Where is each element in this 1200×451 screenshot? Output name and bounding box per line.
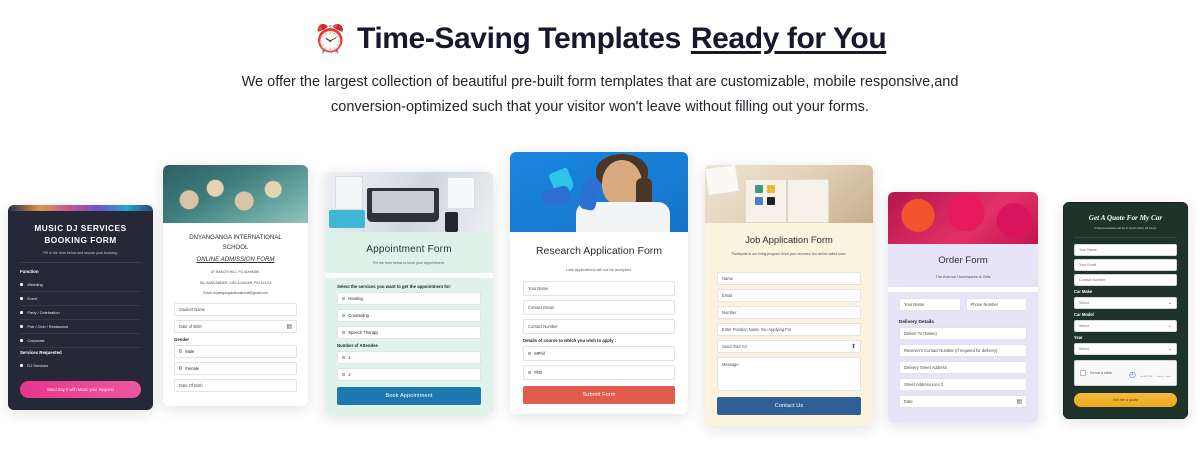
- form-subtitle: The Avenue Homewares & Gifts: [899, 274, 1027, 279]
- form-title: Get A Quote For My Car: [1074, 214, 1177, 222]
- car-make-select[interactable]: Select ⌄: [1074, 297, 1177, 309]
- hero-subtitle-line-2: conversion-optimized such that your visi…: [331, 99, 869, 115]
- card-body: Research Application Form Late applicati…: [510, 232, 688, 414]
- template-card-appointment-form[interactable]: Appointment Form Fill the form below to …: [325, 172, 493, 415]
- page-title-plain: Time-Saving Templates: [357, 22, 681, 56]
- template-card-online-admission-form[interactable]: DNYANGANGA INTERNATIONAL SCHOOL ONLINE A…: [163, 165, 308, 406]
- checkbox-icon[interactable]: [20, 283, 23, 286]
- checkbox-icon[interactable]: [20, 339, 23, 342]
- divider: [1074, 237, 1177, 238]
- radio-icon[interactable]: [179, 366, 182, 369]
- hero-section: ⏰ Time-Saving Templates Ready for You We…: [0, 0, 1200, 121]
- hero-subtitle: We offer the largest collection of beaut…: [235, 70, 965, 121]
- glyph-shape: [755, 185, 763, 193]
- book-appointment-button[interactable]: Book Appointment: [337, 387, 481, 405]
- option-row[interactable]: Wedding: [20, 278, 141, 292]
- student-name-input[interactable]: Student Name: [174, 303, 297, 316]
- radio-option-2[interactable]: 2: [337, 368, 481, 381]
- paper-shape: [705, 165, 738, 195]
- radio-icon[interactable]: [342, 297, 345, 300]
- page-title: ⏰ Time-Saving Templates Ready for You: [0, 22, 1200, 56]
- laptop-screen-shape: [372, 191, 434, 213]
- divider: [20, 262, 141, 263]
- field-label-year: Year: [1074, 335, 1177, 340]
- message-textarea[interactable]: Message: [717, 357, 861, 391]
- template-card-job-application-form[interactable]: Job Application Form Participate in our …: [705, 165, 873, 426]
- receiver-contact-input[interactable]: Receiver's Contact Number (If required f…: [899, 344, 1027, 357]
- form-subtitle: Fill the form below to book your appoint…: [337, 261, 481, 265]
- template-card-research-application-form[interactable]: Research Application Form Late applicati…: [510, 152, 688, 414]
- option-label: Corporate: [27, 338, 44, 343]
- contact-number-input[interactable]: Contact Number: [1074, 274, 1177, 286]
- card-body: MUSIC DJ SERVICES BOOKING FORM Fill in t…: [8, 211, 153, 410]
- field-group-label-services: Select the services you want to get the …: [337, 284, 481, 289]
- recaptcha-brand: reCAPTCHA: [1140, 376, 1152, 378]
- radio-icon[interactable]: [528, 371, 531, 374]
- calendar-icon[interactable]: ▤: [286, 323, 292, 330]
- form-subtitle: Late applications will not be accepted.: [523, 267, 675, 272]
- checkbox-icon[interactable]: [20, 325, 23, 328]
- radio-icon[interactable]: [342, 314, 345, 317]
- select-value: Select: [1079, 324, 1089, 328]
- divider: [337, 278, 481, 279]
- page-title-underlined: Ready for You: [691, 22, 886, 56]
- checkbox-icon[interactable]: [20, 364, 23, 367]
- recaptcha-label: I'm not a robot: [1090, 371, 1112, 375]
- radio-option-male[interactable]: Male: [174, 345, 297, 358]
- option-label: Pub / Club / Restaurant: [27, 324, 67, 329]
- section-label-delivery-details: Delivery Details: [899, 319, 1027, 324]
- glyph-shape: [755, 197, 763, 205]
- template-cards-strip: MUSIC DJ SERVICES BOOKING FORM Fill in t…: [0, 140, 1200, 451]
- banner-image-pencils: [163, 165, 308, 223]
- option-label: Counseling: [348, 313, 368, 318]
- street-address-line-2-input[interactable]: Street Address Line 2: [899, 378, 1027, 391]
- card-header: Job Application Form Participate in our …: [705, 223, 873, 266]
- chevron-down-icon[interactable]: ⌄: [1168, 300, 1172, 306]
- email-input[interactable]: Email: [717, 289, 861, 302]
- radio-option-hearing[interactable]: Hearing: [337, 292, 481, 305]
- book-spine-shape: [786, 179, 788, 223]
- submit-form-button[interactable]: Submit Form: [523, 386, 675, 404]
- card-header: Appointment Form Fill the form below to …: [325, 232, 493, 273]
- form-subtitle: A Representative will be in touch within…: [1074, 226, 1177, 230]
- card-body: Select the services you want to get the …: [325, 278, 493, 415]
- recaptcha-checkbox[interactable]: [1080, 370, 1086, 376]
- option-label: Hearing: [348, 296, 362, 301]
- radio-icon[interactable]: [179, 349, 182, 352]
- contact-number-input[interactable]: Contact Number: [523, 319, 675, 334]
- chevron-down-icon[interactable]: ⌄: [1168, 346, 1172, 352]
- hero-subtitle-line-1: We offer the largest collection of beaut…: [242, 74, 959, 90]
- option-row[interactable]: Party / Celebration: [20, 306, 141, 320]
- option-label: Male: [185, 349, 194, 354]
- blue-folder-shape: [329, 210, 365, 228]
- phone-shape: [445, 212, 458, 232]
- recaptcha-icon: ◴: [1129, 370, 1136, 379]
- option-row[interactable]: Pub / Club / Restaurant: [20, 320, 141, 334]
- field-group-label-gender: Gender: [174, 337, 297, 342]
- form-subtitle: Fill in the form below and secure your b…: [20, 251, 141, 255]
- chevron-down-icon[interactable]: ⌄: [1168, 323, 1172, 329]
- card-body: Name Email Number Enter Position Name Yo…: [705, 266, 873, 426]
- number-input[interactable]: Number: [717, 306, 861, 319]
- option-label: DJ Services: [27, 363, 48, 368]
- submit-button[interactable]: Send Say It with Music your Request: [20, 381, 141, 398]
- glyph-shape: [767, 197, 775, 205]
- input-placeholder: Date: [904, 399, 913, 404]
- your-email-input[interactable]: Your Email: [1074, 259, 1177, 271]
- radio-icon[interactable]: [342, 373, 345, 376]
- delivery-street-address-input[interactable]: Delivery Street Address: [899, 361, 1027, 374]
- radio-option-phd[interactable]: PhD: [523, 365, 675, 380]
- cv-upload-input[interactable]: Send Your Cv ⬆: [717, 340, 861, 353]
- form-title: Research Application Form: [523, 245, 675, 257]
- banner-image-laptop-desk: [325, 172, 493, 232]
- banner-image-flowers: [888, 192, 1038, 244]
- form-title: Appointment Form: [337, 244, 481, 255]
- car-model-select[interactable]: Select ⌄: [1074, 320, 1177, 332]
- divider: [899, 292, 1027, 293]
- form-title-line-2: SCHOOL: [174, 243, 297, 253]
- upload-icon[interactable]: ⬆: [851, 343, 856, 350]
- glyph-shape: [767, 185, 775, 193]
- radio-option-1[interactable]: 1: [337, 351, 481, 364]
- date-of-birth-input-2[interactable]: Date Of Birth: [174, 379, 297, 392]
- input-placeholder: Date of Birth: [179, 324, 202, 329]
- field-group-label-services: Services Requested: [20, 350, 141, 355]
- templates-showcase-page: ⏰ Time-Saving Templates Ready for You We…: [0, 0, 1200, 451]
- form-title: Order Form: [899, 255, 1027, 266]
- deliver-to-input[interactable]: Deliver To (Name): [899, 327, 1027, 340]
- address-line-2: TAL.SANGAMNER, DIST.A.NAGAR, PIN 413714: [174, 281, 297, 285]
- option-label: Female: [185, 366, 199, 371]
- form-title: Job Application Form: [717, 234, 861, 245]
- select-value: Select: [1079, 347, 1089, 351]
- alarm-clock-icon: ⏰: [314, 26, 347, 53]
- field-group-label-function: Function: [20, 269, 141, 274]
- option-label: Speech Therapy: [348, 330, 378, 335]
- radio-option-counseling[interactable]: Counseling: [337, 309, 481, 322]
- radio-option-speech-therapy[interactable]: Speech Therapy: [337, 326, 481, 339]
- field-group-label-attendee: Number of Attendee: [337, 343, 481, 348]
- recaptcha-terms: Privacy - Terms: [1157, 376, 1171, 378]
- option-label: Wedding: [27, 282, 42, 287]
- contact-email-input[interactable]: Contact Email: [523, 300, 675, 315]
- radio-icon[interactable]: [528, 352, 531, 355]
- banner-image-open-book: [705, 165, 873, 223]
- card-body: DNYANGANGA INTERNATIONAL SCHOOL ONLINE A…: [163, 223, 308, 406]
- date-of-birth-input[interactable]: Date of Birth ▤: [174, 320, 297, 333]
- field-group-label-course: Details of course to which you wish to a…: [523, 338, 675, 343]
- position-name-input[interactable]: Enter Position Name You Applying For: [717, 323, 861, 336]
- option-row[interactable]: Corporate: [20, 334, 141, 348]
- address-line-1: AT MANCHI HILL, PO ADHIKIBK,: [174, 270, 297, 274]
- form-subtitle: Participate in our hiring program.Send y…: [717, 252, 861, 256]
- name-input[interactable]: Name: [717, 272, 861, 285]
- form-title: MUSIC DJ SERVICES BOOKING FORM: [20, 222, 141, 246]
- radio-option-female[interactable]: Female: [174, 362, 297, 375]
- your-name-input[interactable]: Your Name: [899, 298, 961, 311]
- template-card-music-dj-booking-form[interactable]: MUSIC DJ SERVICES BOOKING FORM Fill in t…: [8, 205, 153, 410]
- form-title-line-3: ONLINE ADMISSION FORM: [174, 256, 297, 263]
- card-body: Your Name Phone Number Delivery Details …: [888, 292, 1038, 423]
- recaptcha-logo: ◴ reCAPTCHA Privacy - Terms: [1129, 364, 1171, 382]
- contact-us-button[interactable]: Contact Us: [717, 397, 861, 415]
- checkbox-icon[interactable]: [20, 311, 23, 314]
- option-label: Event: [27, 296, 37, 301]
- option-label: 2: [348, 372, 350, 377]
- form-title-line-1: DNYANGANGA INTERNATIONAL: [174, 233, 297, 243]
- recaptcha-widget[interactable]: I'm not a robot ◴ reCAPTCHA Privacy - Te…: [1074, 360, 1177, 386]
- option-label: MPhil: [534, 351, 544, 356]
- option-row[interactable]: DJ Services: [20, 359, 141, 372]
- checkbox-icon[interactable]: [20, 297, 23, 300]
- name-phone-row: Your Name Phone Number: [899, 298, 1027, 315]
- template-card-car-quote-form[interactable]: Get A Quote For My Car A Representative …: [1063, 202, 1188, 419]
- your-name-input[interactable]: Your Name: [1074, 244, 1177, 256]
- year-select[interactable]: Select ⌄: [1074, 343, 1177, 355]
- select-value: Select: [1079, 301, 1089, 305]
- radio-icon[interactable]: [342, 356, 345, 359]
- calendar-icon[interactable]: ▤: [1016, 398, 1022, 405]
- option-label: 1: [348, 355, 350, 360]
- template-card-order-form[interactable]: Order Form The Avenue Homewares & Gifts …: [888, 192, 1038, 423]
- notepad-shape: [447, 177, 475, 209]
- phone-number-input[interactable]: Phone Number: [966, 298, 1028, 311]
- option-row[interactable]: Event: [20, 292, 141, 306]
- card-body: Get A Quote For My Car A Representative …: [1063, 202, 1188, 419]
- option-label: PhD: [534, 370, 542, 375]
- radio-icon[interactable]: [342, 331, 345, 334]
- option-label: Party / Celebration: [27, 310, 59, 315]
- email-line: Email: dnyangangainternational@gmail.com: [174, 291, 297, 295]
- field-label-car-model: Car Model: [1074, 312, 1177, 317]
- clipboard-shape: [335, 176, 363, 210]
- banner-image-scientist: [510, 152, 688, 232]
- glove-left-shape: [540, 185, 571, 207]
- input-placeholder: Send Your Cv: [722, 344, 747, 349]
- field-label-car-make: Car Make: [1074, 289, 1177, 294]
- your-name-input[interactable]: Your Name: [523, 281, 675, 296]
- card-header: Order Form The Avenue Homewares & Gifts: [888, 244, 1038, 287]
- get-quote-button[interactable]: Get me a quote: [1074, 393, 1177, 407]
- date-input[interactable]: Date ▤: [899, 395, 1027, 408]
- radio-option-mphil[interactable]: MPhil: [523, 346, 675, 361]
